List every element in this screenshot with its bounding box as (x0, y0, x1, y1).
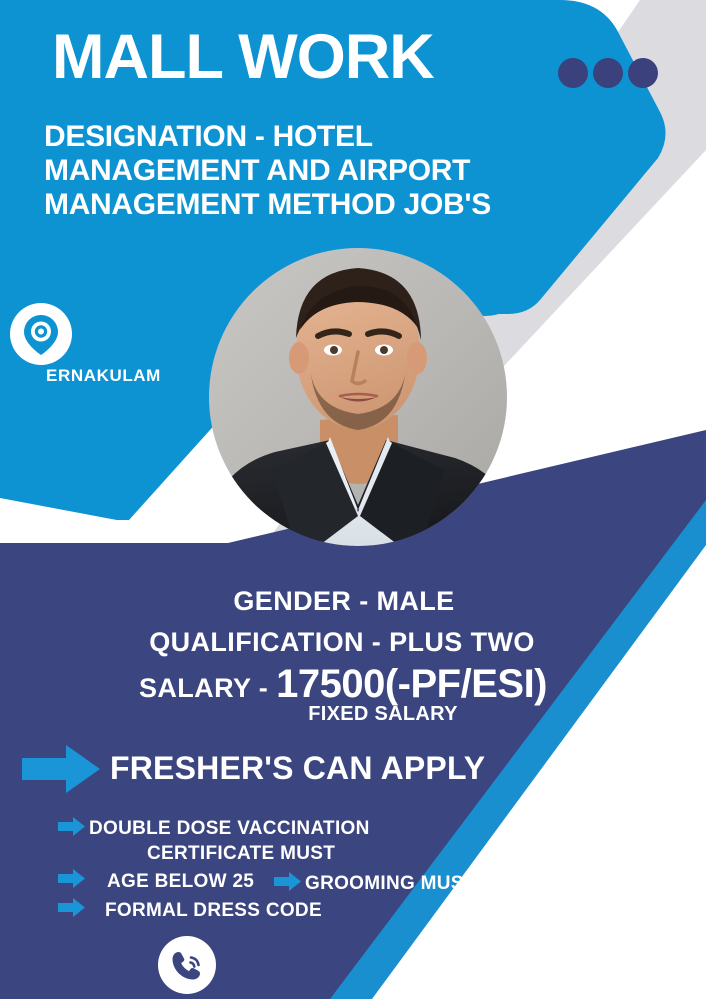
salary-amount: 17500(-PF/ESI) (276, 662, 547, 706)
decoration-dot-3 (628, 58, 658, 88)
arrow-right-icon-3 (274, 872, 301, 891)
poster-title: MALL WORK (52, 26, 434, 89)
location-label: ERNAKULAM (46, 366, 161, 386)
phone-call-icon (158, 936, 216, 994)
qualification-line: QUALIFICATION - PLUS TWO (0, 627, 706, 658)
gender-line: GENDER - MALE (0, 586, 706, 617)
requirement-3: AGE BELOW 25 (107, 871, 254, 893)
requirement-4: GROOMING MUST (305, 873, 476, 895)
olx-region-text: INDIA (630, 946, 677, 958)
arrow-right-icon-2 (58, 869, 85, 888)
arrow-right-icon-4 (58, 898, 85, 917)
requirement-2: CERTIFICATE MUST (147, 843, 335, 865)
olx-brand-text: olx (536, 885, 620, 950)
arrow-right-icon-main (22, 745, 100, 793)
decoration-dot-2 (593, 58, 623, 88)
salary-label: SALARY - (139, 673, 276, 703)
salary-line: SALARY - 17500(-PF/ESI) (0, 662, 706, 707)
decoration-dot-1 (558, 58, 588, 88)
freshers-highlight: FRESHER'S CAN APPLY (110, 750, 485, 787)
location-pin-icon (10, 303, 72, 365)
requirement-5: FORMAL DRESS CODE (105, 900, 322, 922)
arrow-right-icon-1 (58, 817, 85, 836)
job-advertisement-poster: MALL WORK DESIGNATION - HOTEL MANAGEMENT… (0, 0, 706, 999)
poster-subtitle: DESIGNATION - HOTEL MANAGEMENT AND AIRPO… (44, 120, 589, 222)
olx-watermark: olx INDIA (534, 885, 694, 963)
requirement-1: DOUBLE DOSE VACCINATION (89, 818, 370, 840)
fixed-salary-note: FIXED SALARY (0, 703, 706, 726)
